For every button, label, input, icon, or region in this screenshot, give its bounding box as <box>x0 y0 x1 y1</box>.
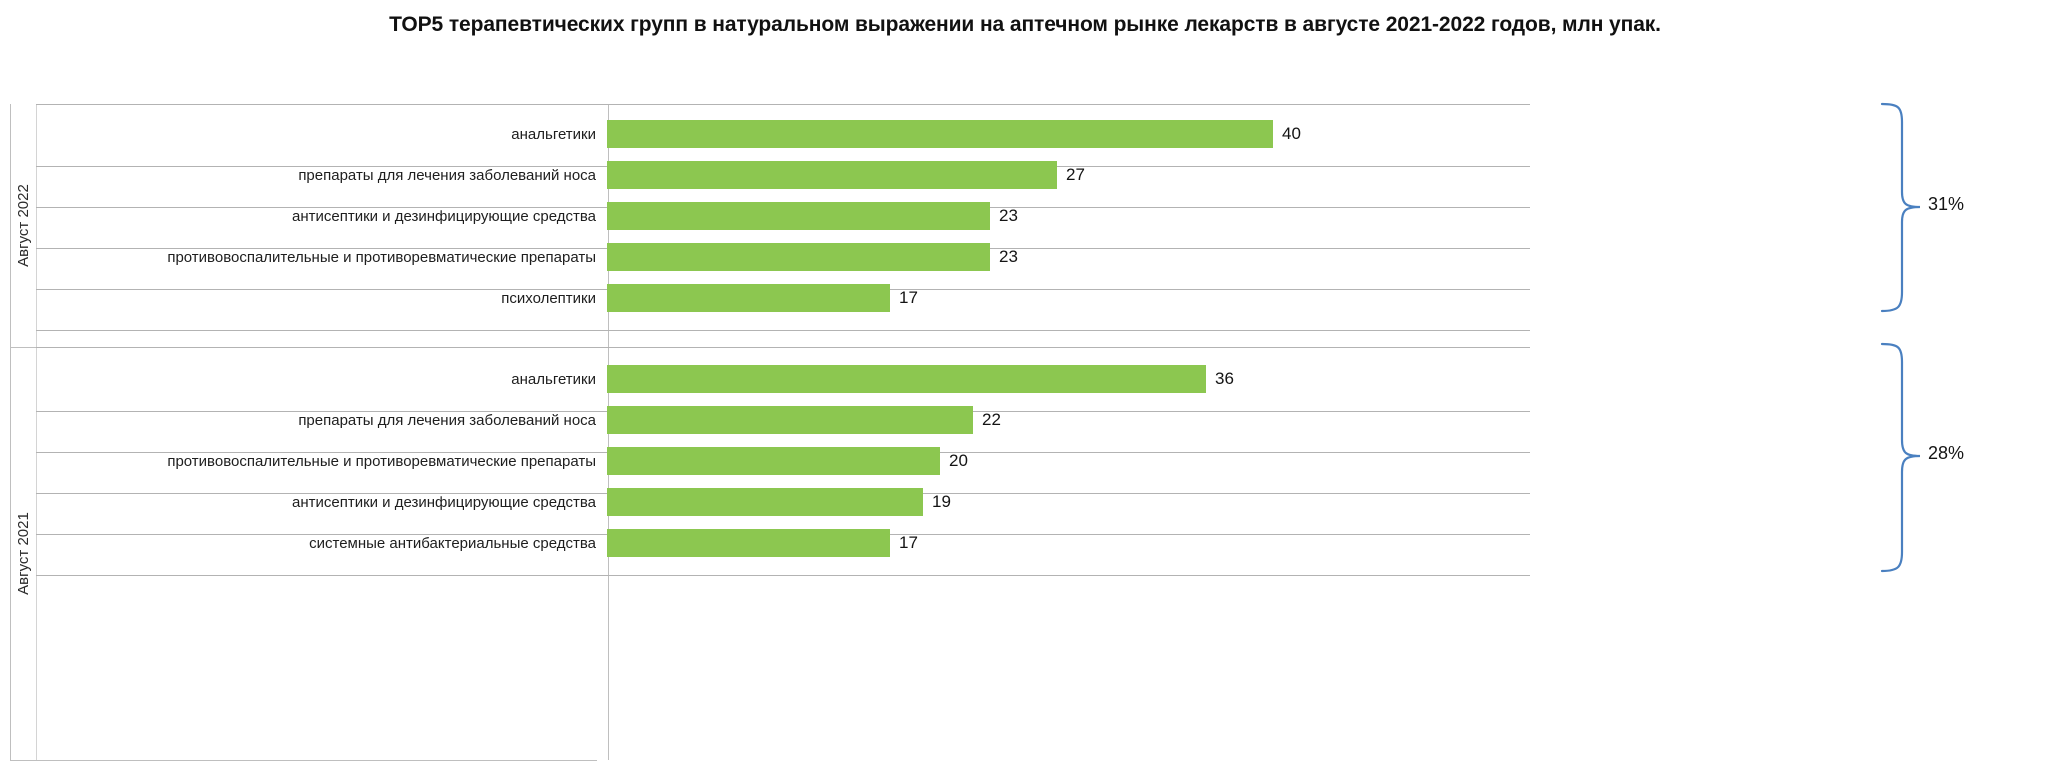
brace-2021-label: 28% <box>1928 443 1964 464</box>
category-label: антисептики и дезинфицирующие средства <box>36 482 602 523</box>
group-axis-column: Август 2022 Август 2021 <box>10 104 37 760</box>
category-label: антисептики и дезинфицирующие средства <box>36 196 602 237</box>
bar-chart: TOP5 терапевтических групп в натуральном… <box>0 0 2048 768</box>
bar-value-label: 19 <box>923 488 951 516</box>
bar-2022-analgetiki[interactable] <box>607 120 1273 148</box>
category-label: психолептики <box>36 278 602 319</box>
bar-2022-nose[interactable] <box>607 161 1057 189</box>
brace-2022-label: 31% <box>1928 194 1964 215</box>
bar-value-label: 40 <box>1273 120 1301 148</box>
group-axis-divider <box>10 347 36 348</box>
bar-2021-antiseptics[interactable] <box>607 488 923 516</box>
bar-value-label: 17 <box>890 284 918 312</box>
bars-container: 40 27 23 23 17 36 22 20 19 17 <box>607 104 1530 760</box>
bar-2021-analgetiki[interactable] <box>607 365 1206 393</box>
category-label: анальгетики <box>36 359 602 400</box>
bar-value-label: 23 <box>990 243 1018 271</box>
bar-value-label: 23 <box>990 202 1018 230</box>
bar-value-label: 22 <box>973 406 1001 434</box>
category-label: противовоспалительные и противоревматиче… <box>36 441 602 482</box>
plot-bottom-border <box>10 760 597 761</box>
category-label: препараты для лечения заболеваний носа <box>36 400 602 441</box>
bar-2021-nose[interactable] <box>607 406 973 434</box>
plot-area: Август 2022 Август 2021 анальгетики <box>10 104 1530 760</box>
bar-value-label: 17 <box>890 529 918 557</box>
group-axis-title-2022: Август 2022 <box>10 104 36 347</box>
bar-2022-antiseptics[interactable] <box>607 202 990 230</box>
group-axis-label-2022: Август 2022 <box>15 184 32 267</box>
bar-2021-antibacterial[interactable] <box>607 529 890 557</box>
group-axis-label-2021: Август 2021 <box>15 512 32 595</box>
bar-2021-antiinflam[interactable] <box>607 447 940 475</box>
bar-value-label: 27 <box>1057 161 1085 189</box>
chart-title: TOP5 терапевтических групп в натуральном… <box>190 12 1860 39</box>
category-label: препараты для лечения заболеваний носа <box>36 155 602 196</box>
group-axis-title-2021: Август 2021 <box>10 347 36 760</box>
bar-value-label: 20 <box>940 447 968 475</box>
bar-2022-psycholeptics[interactable] <box>607 284 890 312</box>
category-label: противовоспалительные и противоревматиче… <box>36 237 602 278</box>
category-label: системные антибактериальные средства <box>36 523 602 564</box>
category-label: анальгетики <box>36 114 602 155</box>
bar-value-label: 36 <box>1206 365 1234 393</box>
bar-2022-antiinflam[interactable] <box>607 243 990 271</box>
